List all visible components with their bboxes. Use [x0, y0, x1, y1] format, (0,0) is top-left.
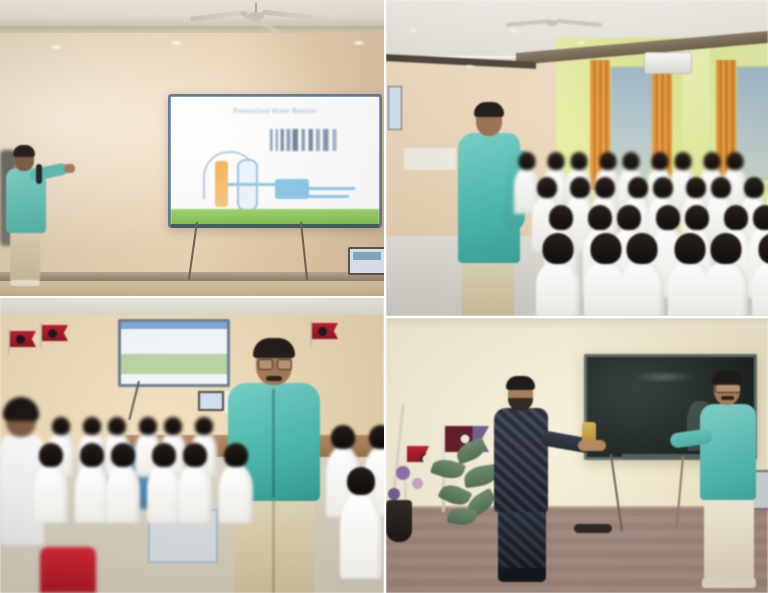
auditorium-scene: Pressurised Water Reactor: [0, 0, 384, 296]
moustache: [721, 396, 734, 400]
audience-head: [599, 152, 616, 170]
skyline-graphic: [267, 129, 345, 151]
moustache: [266, 376, 282, 381]
audience-head: [674, 152, 691, 170]
panel-control-bar[interactable]: [171, 224, 379, 228]
collage-divider-vertical: [384, 0, 386, 593]
spectacles-icon: [715, 384, 741, 393]
wall-monitor[interactable]: [388, 86, 402, 130]
handshake: [578, 440, 606, 451]
audience-head: [543, 233, 574, 264]
audience-head: [224, 443, 248, 467]
coolant-pipe-graphic: [309, 187, 355, 190]
collage-divider-left-horizontal: [0, 296, 384, 298]
downlight-icon: [508, 28, 519, 33]
recipient-trousers: [704, 496, 754, 584]
photo-collage: Pressurised Water Reactor: [0, 0, 768, 593]
microphone-icon: [36, 164, 42, 184]
downlight-icon: [464, 64, 475, 69]
audience-member: [704, 262, 748, 316]
audience-head: [80, 443, 104, 467]
audience-head: [108, 417, 126, 435]
collage-divider-right-horizontal: [386, 316, 768, 318]
lecture-hall-scene: [0, 297, 384, 593]
audience-head: [595, 177, 615, 198]
coolant-pipe-graphic: [309, 195, 349, 198]
downlight-icon: [576, 40, 587, 45]
audience-head: [518, 152, 535, 170]
audience-head: [195, 417, 213, 435]
memento-presentation-scene: [386, 318, 768, 593]
audience-head: [570, 152, 587, 170]
downlight-icon: [50, 44, 63, 50]
audience-head: [726, 152, 743, 170]
audience-head: [152, 443, 176, 467]
audience-head: [703, 152, 720, 170]
audience-head: [653, 177, 673, 198]
flag-pole: [8, 329, 10, 355]
audience-head: [183, 443, 207, 467]
officer-hair: [506, 376, 535, 390]
audience-head: [711, 177, 731, 198]
officer-trousers: [498, 508, 546, 574]
downlight-icon: [408, 28, 419, 33]
collage-panel-bottom-right[interactable]: [386, 318, 768, 593]
flag-pole: [40, 323, 42, 349]
classroom-scene: [386, 0, 768, 316]
coolant-pipe-graphic: [228, 183, 278, 186]
podium-monitor[interactable]: [348, 247, 384, 275]
speaker-shoes: [10, 280, 40, 286]
screen-glint: [634, 371, 694, 383]
interactive-flat-panel[interactable]: Pressurised Water Reactor: [168, 94, 382, 228]
collage-panel-top-left[interactable]: Pressurised Water Reactor: [0, 0, 384, 296]
speaker-hand-with-remote: [64, 164, 75, 173]
slide-title: Pressurised Water Reactor: [171, 107, 379, 115]
presenter-shirt-placket: [272, 389, 275, 497]
audience-head: [39, 443, 63, 467]
wall-shadow: [386, 318, 768, 328]
slide-header-band: [121, 322, 227, 329]
downlight-icon: [352, 40, 365, 46]
ground-band-graphic: [171, 209, 379, 225]
audience-head: [744, 177, 764, 198]
presenter-hair: [253, 338, 295, 358]
audience-head: [591, 233, 622, 264]
audience-member: [34, 465, 68, 523]
flower-vase: [386, 500, 412, 542]
audience-head: [537, 177, 557, 198]
leaf: [447, 506, 478, 528]
leaf: [454, 437, 488, 464]
audience-head: [724, 205, 748, 230]
ceiling: [0, 297, 384, 317]
audience-member: [75, 465, 109, 523]
recipient-hair: [712, 370, 742, 385]
audience-head: [549, 205, 573, 230]
flower: [388, 488, 400, 500]
audience-head: [627, 233, 658, 264]
tv-mount-bar: [622, 454, 708, 459]
flag-pole: [310, 321, 312, 347]
recipient-torso: [700, 404, 756, 500]
audience-head: [111, 443, 135, 467]
audience-head: [753, 205, 768, 230]
wall-screen[interactable]: [118, 319, 230, 387]
audience-head: [675, 233, 706, 264]
audience-member: [178, 465, 212, 523]
collage-panel-top-right[interactable]: [386, 0, 768, 316]
audience-head: [711, 233, 742, 264]
audience-member: [219, 465, 253, 523]
presenter-trouser-seam: [272, 497, 275, 593]
audience-head: [622, 152, 639, 170]
floor: [0, 281, 384, 296]
recipient-shoes: [702, 578, 756, 588]
audience-member: [106, 465, 140, 523]
spectacles-icon: [258, 359, 273, 370]
audience-member: [147, 465, 181, 523]
turbine-graphic: [275, 179, 309, 199]
audience-head: [570, 177, 590, 198]
audience-head: [685, 205, 709, 230]
reactor-vessel-graphic: [215, 161, 228, 207]
officer-boots: [498, 568, 546, 582]
speaker-trousers: [10, 231, 40, 283]
flower: [396, 466, 410, 480]
audience-head: [656, 205, 680, 230]
audience-member: [620, 262, 664, 316]
slide-photo-band: [121, 354, 227, 374]
chair[interactable]: [40, 547, 96, 593]
audience-head: [139, 417, 157, 435]
air-conditioner: [644, 52, 692, 74]
downlight-icon: [170, 40, 183, 46]
officer-uniform: [494, 408, 548, 512]
floor-monitor[interactable]: [198, 391, 224, 411]
audience-head: [686, 177, 706, 198]
speaker-hair: [13, 145, 35, 157]
audience-head: [52, 417, 70, 435]
audience-head: [164, 417, 182, 435]
audience-head: [628, 177, 648, 198]
slide-canvas: Pressurised Water Reactor: [171, 97, 379, 225]
side-table: [404, 146, 456, 170]
audience-head: [83, 417, 101, 435]
audience-head: [331, 425, 355, 449]
audience-head: [347, 467, 375, 495]
audience-head: [369, 425, 384, 449]
spectacles-icon: [277, 359, 292, 370]
audience-member: [340, 493, 382, 579]
audience-member: [536, 262, 580, 316]
audience-head: [651, 152, 668, 170]
collage-panel-bottom-left[interactable]: [0, 297, 384, 593]
audience-head: [588, 205, 612, 230]
speaker-trousers: [462, 258, 514, 316]
audience-head: [617, 205, 641, 230]
speaker-hair: [474, 102, 504, 117]
audience-head: [547, 152, 564, 170]
flower: [412, 478, 423, 489]
microphone-on-floor: [574, 524, 612, 533]
